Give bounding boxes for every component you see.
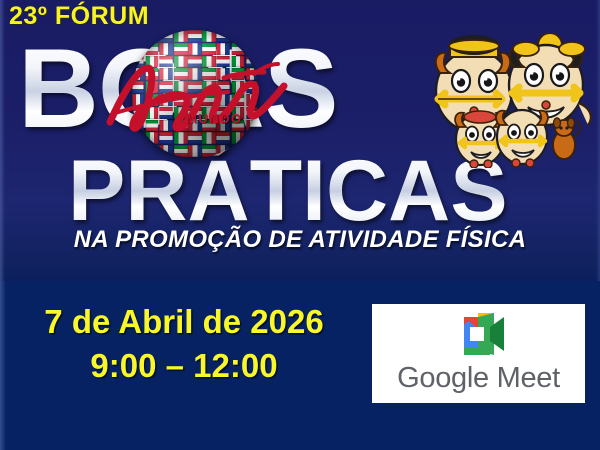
agita-mundo-mascot-family bbox=[428, 33, 600, 168]
google-meet-card: Google Meet bbox=[372, 304, 585, 403]
flag-globe-icon bbox=[131, 30, 259, 158]
mascot-child-right bbox=[496, 110, 548, 167]
event-date: 7 de Abril de 2026 bbox=[8, 303, 360, 341]
mascot-dog bbox=[553, 118, 580, 159]
brand-word-mundo: MUNDO bbox=[186, 111, 243, 126]
event-time: 9:00 – 12:00 bbox=[8, 347, 360, 385]
footer-left-edge bbox=[0, 281, 6, 450]
google-meet-label: Google Meet bbox=[397, 362, 560, 395]
poster-subtitle: NA PROMOÇÃO DE ATIVIDADE FÍSICA bbox=[14, 226, 586, 254]
banner-left-edge bbox=[0, 0, 5, 281]
globe-inner-shadow bbox=[131, 30, 259, 158]
poster-banner: 23º FÓRUM BOAS PRÁTICAS NA PROMOÇÃO DE A… bbox=[0, 0, 600, 281]
event-datetime: 7 de Abril de 2026 9:00 – 12:00 bbox=[8, 303, 360, 385]
event-poster: 23º FÓRUM BOAS PRÁTICAS NA PROMOÇÃO DE A… bbox=[0, 0, 600, 450]
google-meet-camera-icon bbox=[448, 309, 510, 361]
